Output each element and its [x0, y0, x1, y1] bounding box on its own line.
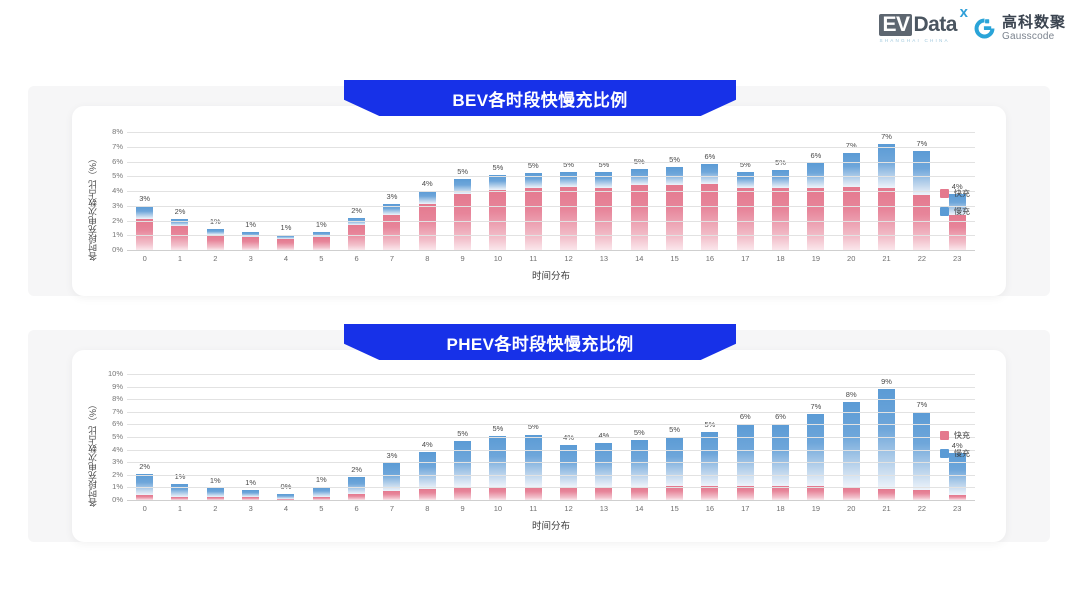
bar-value-label: 6% [704, 153, 715, 161]
bar-segment-slow-charge[interactable] [560, 445, 577, 488]
grid-line [127, 191, 975, 192]
bar-segment-slow-charge[interactable] [419, 452, 436, 490]
y-tick-label: 2% [112, 217, 123, 225]
bar-segment-fast-charge[interactable] [913, 490, 930, 500]
y-tick-label: 4% [112, 187, 123, 195]
x-tick-label: 10 [480, 254, 515, 263]
y-tick-label: 1% [112, 231, 123, 239]
legend-label: 快充 [954, 188, 970, 199]
stacked-bar[interactable]: 1% [313, 487, 330, 500]
legend-item[interactable]: 快充 [940, 430, 970, 441]
bar-segment-slow-charge[interactable] [348, 477, 365, 493]
bar-value-label: 1% [245, 221, 256, 229]
bar-segment-slow-charge[interactable] [737, 172, 754, 188]
bar-value-label: 8% [846, 391, 857, 399]
y-axis-label-phev: 各时段充电次数占比（%） [85, 374, 99, 534]
bar-value-label: 9% [881, 378, 892, 386]
y-tick-label: 8% [112, 128, 123, 136]
bar-segment-fast-charge[interactable] [843, 187, 860, 250]
bar-value-label: 5% [457, 168, 468, 176]
legend-bev: 快充慢充 [940, 188, 970, 217]
bar-segment-slow-charge[interactable] [701, 164, 718, 183]
bar-segment-fast-charge[interactable] [843, 487, 860, 500]
x-tick-label: 8 [410, 504, 445, 513]
bar-segment-fast-charge[interactable] [489, 487, 506, 500]
bar-value-label: 5% [493, 164, 504, 172]
bar-segment-fast-charge[interactable] [419, 489, 436, 500]
stacked-bar[interactable]: 5% [489, 175, 506, 250]
bar-value-label: 1% [316, 221, 327, 229]
stacked-bar[interactable]: 5% [595, 172, 612, 250]
stacked-bar[interactable]: 4% [560, 445, 577, 500]
stacked-bar[interactable]: 6% [701, 164, 718, 250]
stacked-bar[interactable]: 1% [277, 235, 294, 250]
x-tick-label: 16 [692, 504, 727, 513]
evdata-ev-mark: EV [879, 14, 912, 36]
bar-segment-fast-charge[interactable] [772, 188, 789, 250]
stacked-bar[interactable]: 1% [242, 490, 259, 500]
x-tick-label: 8 [410, 254, 445, 263]
bar-value-label: 4% [422, 441, 433, 449]
bar-segment-slow-charge[interactable] [560, 172, 577, 187]
gausscode-cn-name: 高科数聚 [1002, 15, 1066, 30]
legend-label: 快充 [954, 430, 970, 441]
bar-segment-fast-charge[interactable] [454, 487, 471, 500]
stacked-bar[interactable]: 7% [878, 144, 895, 250]
bar-segment-fast-charge[interactable] [525, 188, 542, 250]
bar-segment-slow-charge[interactable] [454, 441, 471, 488]
bar-segment-fast-charge[interactable] [419, 204, 436, 250]
bar-segment-slow-charge[interactable] [843, 153, 860, 187]
x-tick-label: 23 [940, 254, 975, 263]
evdata-x-icon: x [960, 5, 968, 20]
chart-title-ribbon-bev: BEV各时段快慢充比例 [344, 80, 736, 116]
grid-line [127, 206, 975, 207]
bar-value-label: 1% [210, 477, 221, 485]
bar-segment-fast-charge[interactable] [560, 487, 577, 500]
gausscode-text: 高科数聚 Gausscode [1002, 15, 1066, 42]
plot-area-bev: 3%2%1%1%1%1%2%3%4%5%5%5%5%5%5%5%6%5%5%6%… [127, 132, 975, 250]
chart-title-ribbon-phev: PHEV各时段快慢充比例 [344, 324, 736, 360]
x-tick-label: 13 [586, 504, 621, 513]
x-tick-label: 22 [904, 254, 939, 263]
y-tick-label: 8% [112, 395, 123, 403]
x-axis-label-bev: 时间分布 [127, 268, 975, 282]
gausscode-en-name: Gausscode [1002, 32, 1066, 42]
x-tick-label: 4 [268, 504, 303, 513]
stacked-bar[interactable]: 3% [383, 204, 400, 250]
x-tick-label: 17 [728, 254, 763, 263]
bar-value-label: 3% [387, 452, 398, 460]
stacked-bar[interactable]: 5% [560, 172, 577, 250]
bar-segment-slow-charge[interactable] [737, 424, 754, 486]
bar-segment-slow-charge[interactable] [313, 487, 330, 496]
grid-line [127, 235, 975, 236]
legend-color-swatch [940, 449, 949, 458]
y-tick-label: 4% [112, 446, 123, 454]
grid-line [127, 374, 975, 375]
bar-segment-fast-charge[interactable] [666, 185, 683, 250]
x-tick-label: 11 [516, 254, 551, 263]
stacked-bar[interactable]: 5% [525, 173, 542, 250]
x-tick-label: 22 [904, 504, 939, 513]
bar-segment-fast-charge[interactable] [277, 239, 294, 250]
y-tick-label: 5% [112, 433, 123, 441]
evdata-subtitle: SHANGHAI CHINA [879, 38, 949, 43]
bar-segment-fast-charge[interactable] [348, 225, 365, 250]
bar-segment-fast-charge[interactable] [525, 487, 542, 500]
x-tick-label: 18 [763, 254, 798, 263]
bar-value-label: 7% [916, 401, 927, 409]
bar-segment-slow-charge[interactable] [772, 170, 789, 188]
bar-value-label: 2% [139, 463, 150, 471]
bar-value-label: 7% [846, 142, 857, 150]
y-tick-label: 6% [112, 420, 123, 428]
stacked-bar[interactable]: 3% [136, 206, 153, 250]
x-tick-label: 12 [551, 254, 586, 263]
bar-segment-fast-charge[interactable] [701, 184, 718, 250]
bar-segment-fast-charge[interactable] [595, 487, 612, 500]
x-tick-label: 19 [798, 254, 833, 263]
bar-segment-fast-charge[interactable] [383, 491, 400, 500]
bar-segment-fast-charge[interactable] [560, 187, 577, 250]
stacked-bar[interactable]: 5% [701, 432, 718, 500]
x-tick-label: 14 [622, 504, 657, 513]
grid-line [127, 475, 975, 476]
stacked-bar[interactable]: 5% [666, 167, 683, 250]
bar-value-label: 6% [775, 413, 786, 421]
grid-line [127, 147, 975, 148]
evdata-logo-main: EV Data x [879, 14, 957, 36]
x-tick-label: 10 [480, 504, 515, 513]
grid-line [127, 437, 975, 438]
x-tick-label: 9 [445, 504, 480, 513]
bar-value-label: 3% [387, 193, 398, 201]
bar-value-label: 1% [316, 476, 327, 484]
gausscode-logo: 高科数聚 Gausscode [973, 15, 1066, 42]
y-tick-label: 0% [112, 246, 123, 254]
x-tick-label: 9 [445, 254, 480, 263]
x-tick-label: 2 [198, 254, 233, 263]
x-tick-label: 16 [692, 254, 727, 263]
bar-segment-fast-charge[interactable] [242, 237, 259, 250]
bar-value-label: 7% [810, 403, 821, 411]
bar-segment-fast-charge[interactable] [171, 226, 188, 250]
page-title-phev: PHEV各时段快慢充比例 [446, 330, 633, 355]
y-tick-label: 3% [112, 202, 123, 210]
stacked-bar[interactable]: 1% [207, 229, 224, 250]
y-tick-label: 3% [112, 458, 123, 466]
grid-line [127, 387, 975, 388]
grid-line [127, 462, 975, 463]
x-tick-label: 13 [586, 254, 621, 263]
x-axis-ticks-phev: 01234567891011121314151617181920212223 [127, 504, 975, 513]
slide-page: EV Data x SHANGHAI CHINA 高科数聚 Gausscode [0, 0, 1080, 608]
bar-segment-slow-charge[interactable] [171, 484, 188, 497]
stacked-bar[interactable]: 8% [843, 402, 860, 500]
y-tick-label: 2% [112, 471, 123, 479]
axis-baseline [127, 500, 975, 501]
grid-line [127, 162, 975, 163]
x-tick-label: 21 [869, 254, 904, 263]
x-axis-ticks-bev: 01234567891011121314151617181920212223 [127, 254, 975, 263]
legend-color-swatch [940, 189, 949, 198]
bar-value-label: 7% [881, 133, 892, 141]
grid-line [127, 424, 975, 425]
y-tick-label: 10% [108, 370, 123, 378]
bar-segment-fast-charge[interactable] [807, 188, 824, 250]
x-tick-label: 1 [162, 254, 197, 263]
x-tick-label: 21 [869, 504, 904, 513]
y-tick-label: 7% [112, 408, 123, 416]
bar-segment-fast-charge[interactable] [207, 235, 224, 250]
x-tick-label: 5 [304, 504, 339, 513]
legend-item[interactable]: 快充 [940, 188, 970, 199]
x-tick-label: 3 [233, 254, 268, 263]
bar-segment-fast-charge[interactable] [737, 188, 754, 250]
stacked-bar[interactable]: 5% [489, 436, 506, 500]
bar-segment-slow-charge[interactable] [701, 432, 718, 486]
legend-item[interactable]: 慢充 [940, 206, 970, 217]
bar-value-label: 5% [528, 162, 539, 170]
stacked-bar[interactable]: 5% [737, 172, 754, 250]
stacked-bar[interactable]: 2% [348, 477, 365, 500]
evdata-data-text: Data [913, 14, 957, 35]
bar-value-label: 5% [669, 426, 680, 434]
bar-segment-fast-charge[interactable] [878, 489, 895, 500]
bar-segment-slow-charge[interactable] [419, 191, 436, 204]
bar-value-label: 1% [281, 224, 292, 232]
chart-bev: 各时段充电次数占比（%） 0%1%2%3%4%5%6%7%8% 3%2%1%1%… [85, 132, 975, 284]
y-tick-label: 1% [112, 483, 123, 491]
x-tick-label: 5 [304, 254, 339, 263]
bar-segment-fast-charge[interactable] [631, 185, 648, 250]
x-tick-label: 19 [798, 504, 833, 513]
legend-color-swatch [940, 431, 949, 440]
x-tick-label: 11 [516, 504, 551, 513]
stacked-bar[interactable]: 5% [525, 435, 542, 501]
x-tick-label: 20 [834, 504, 869, 513]
legend-color-swatch [940, 207, 949, 216]
stacked-bar[interactable]: 1% [171, 484, 188, 500]
grid-line [127, 221, 975, 222]
legend-label: 慢充 [954, 206, 970, 217]
bar-segment-slow-charge[interactable] [595, 172, 612, 188]
stacked-bar[interactable]: 1% [207, 488, 224, 500]
y-axis-ticks-phev: 0%1%2%3%4%5%6%7%8%9%10% [99, 374, 125, 500]
x-tick-label: 7 [374, 254, 409, 263]
header-logo-bar: EV Data x SHANGHAI CHINA 高科数聚 Gausscode [879, 14, 1066, 43]
bar-segment-fast-charge[interactable] [913, 195, 930, 250]
bar-value-label: 6% [810, 152, 821, 160]
bar-value-label: 4% [422, 180, 433, 188]
bar-value-label: 5% [669, 156, 680, 164]
bar-value-label: 5% [493, 425, 504, 433]
x-tick-label: 18 [763, 504, 798, 513]
x-tick-label: 20 [834, 254, 869, 263]
x-tick-label: 1 [162, 504, 197, 513]
x-tick-label: 12 [551, 504, 586, 513]
y-tick-label: 7% [112, 143, 123, 151]
chart-phev: 各时段充电次数占比（%） 0%1%2%3%4%5%6%7%8%9%10% 2%1… [85, 374, 975, 534]
bar-segment-slow-charge[interactable] [136, 206, 153, 219]
bar-segment-slow-charge[interactable] [878, 144, 895, 188]
stacked-bar[interactable]: 5% [772, 170, 789, 250]
x-tick-label: 6 [339, 254, 374, 263]
bar-value-label: 3% [139, 195, 150, 203]
grid-line [127, 399, 975, 400]
bar-segment-slow-charge[interactable] [242, 490, 259, 498]
stacked-bar[interactable]: 5% [631, 169, 648, 250]
evdata-logo: EV Data x SHANGHAI CHINA [879, 14, 957, 43]
grid-line [127, 132, 975, 133]
stacked-bar[interactable]: 4% [595, 443, 612, 500]
x-tick-label: 4 [268, 254, 303, 263]
x-tick-label: 15 [657, 254, 692, 263]
page-title-bev: BEV各时段快慢充比例 [452, 86, 627, 111]
grid-line [127, 412, 975, 413]
y-tick-label: 5% [112, 172, 123, 180]
x-tick-label: 15 [657, 504, 692, 513]
bar-segment-fast-charge[interactable] [878, 188, 895, 250]
bar-value-label: 2% [351, 466, 362, 474]
stacked-bar[interactable]: 4% [949, 453, 966, 500]
bar-value-label: 5% [634, 429, 645, 437]
legend-label: 慢充 [954, 448, 970, 459]
x-tick-label: 14 [622, 254, 657, 263]
x-tick-label: 7 [374, 504, 409, 513]
gausscode-g-icon [973, 17, 996, 40]
x-axis-label-phev: 时间分布 [127, 518, 975, 532]
bar-segment-slow-charge[interactable] [631, 440, 648, 487]
bar-value-label: 2% [351, 207, 362, 215]
grid-line [127, 176, 975, 177]
x-tick-label: 6 [339, 504, 374, 513]
bar-segment-fast-charge[interactable] [454, 194, 471, 250]
bar-value-label: 6% [740, 413, 751, 421]
y-axis-ticks-bev: 0%1%2%3%4%5%6%7%8% [99, 132, 125, 250]
x-tick-label: 0 [127, 254, 162, 263]
x-tick-label: 2 [198, 504, 233, 513]
plot-area-phev: 2%1%1%1%0%1%2%3%4%5%5%5%4%4%5%5%5%6%6%7%… [127, 374, 975, 500]
y-tick-label: 0% [112, 496, 123, 504]
bar-value-label: 1% [245, 479, 256, 487]
bar-segment-slow-charge[interactable] [136, 474, 153, 495]
stacked-bar[interactable]: 2% [348, 218, 365, 250]
y-tick-label: 6% [112, 158, 123, 166]
bar-segment-fast-charge[interactable] [313, 237, 330, 250]
bar-segment-slow-charge[interactable] [525, 435, 542, 487]
stacked-bar[interactable]: 3% [383, 463, 400, 500]
bar-segment-slow-charge[interactable] [207, 488, 224, 497]
stacked-bar[interactable]: 5% [454, 179, 471, 250]
bar-segment-fast-charge[interactable] [631, 487, 648, 500]
x-tick-label: 0 [127, 504, 162, 513]
x-tick-label: 23 [940, 504, 975, 513]
bar-segment-slow-charge[interactable] [913, 151, 930, 195]
axis-baseline [127, 250, 975, 251]
stacked-bar[interactable]: 9% [878, 389, 895, 501]
bar-segment-slow-charge[interactable] [772, 424, 789, 486]
legend-item[interactable]: 慢充 [940, 448, 970, 459]
grid-line [127, 487, 975, 488]
x-tick-label: 17 [728, 504, 763, 513]
y-axis-label-bev: 各时段充电次数占比（%） [85, 132, 99, 284]
bar-value-label: 2% [175, 208, 186, 216]
stacked-bar[interactable]: 5% [666, 437, 683, 500]
y-tick-label: 9% [112, 383, 123, 391]
legend-phev: 快充慢充 [940, 430, 970, 459]
x-tick-label: 3 [233, 504, 268, 513]
grid-line [127, 450, 975, 451]
bar-segment-fast-charge[interactable] [595, 188, 612, 250]
